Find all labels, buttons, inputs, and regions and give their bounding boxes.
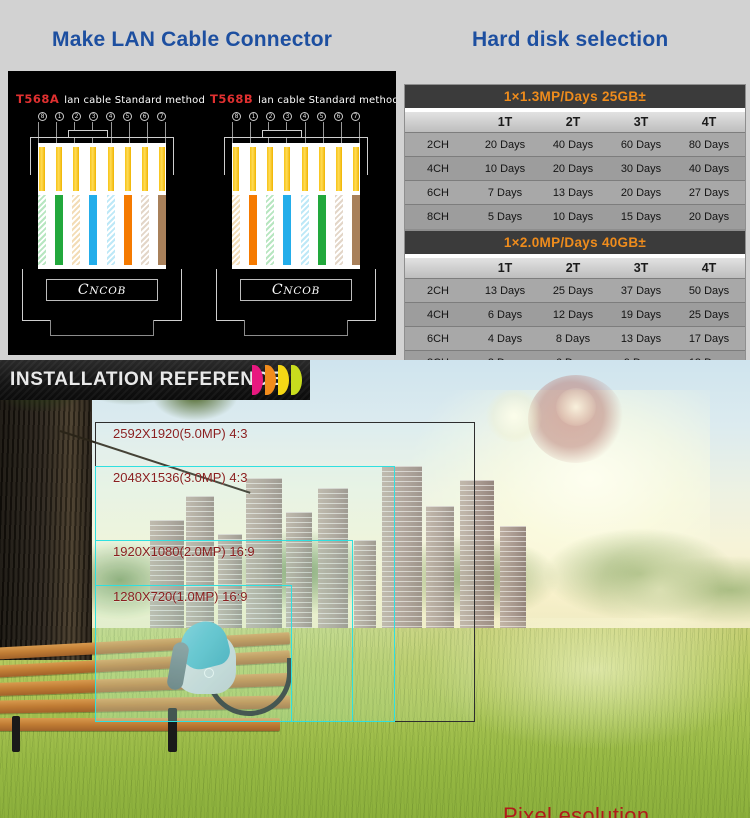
cell-value: 20 Days [539,157,607,180]
resolution-label-2mp: 1920X1080(2.0MP) 16:9 [113,544,255,559]
brand-name: CNCOB [78,282,126,298]
gold-contact [250,147,256,191]
hdd-capacity-table-2-0mp: 1×2.0MP/Days 40GB± 1T 2T 3T 4T 2CH 13 Da… [404,230,746,376]
cell-value: 80 Days [675,133,743,156]
wire-pin-4 [283,143,291,269]
cell-value: 50 Days [675,279,743,302]
pixel-legend-title: Pixel esolution [503,803,719,818]
gold-contact [142,147,148,191]
pin-badge: 3 [283,112,292,121]
pin-badge: 4 [106,112,115,121]
cell-value: 15 Days [607,205,675,229]
resolution-label-3mp: 2048X1536(3.0MP) 4:3 [113,470,247,485]
chevron-lime [291,365,302,395]
cell-value: 27 Days [675,181,743,204]
pin-badge: 5 [317,112,326,121]
wire-jacket-green [55,195,63,265]
wire-jacket-orange [124,195,132,265]
wire-pin-7 [141,143,149,269]
wire-pin-4 [89,143,97,269]
resolution-box-1mp [95,585,292,722]
wire-jacket-white-brown [141,195,149,265]
column-header-1t: 1T [471,112,539,132]
wire-jacket-orange [249,195,257,265]
cell-value: 30 Days [607,157,675,180]
connector-heading-t568b: T568Blan cable Standard method [210,90,396,108]
pin-badge: 6 [140,112,149,121]
gold-contact [125,147,131,191]
column-header-3t: 3T [607,258,675,278]
row-label: 8CH [405,205,471,229]
column-header-blank [405,258,471,278]
standard-desc-t568a: lan cable Standard method [64,95,205,106]
row-label: 6CH [405,181,471,204]
brand-label-box-t568a: CNCOB [46,279,158,301]
wire-pin-6 [124,143,132,269]
row-label: 2CH [405,279,471,302]
cell-value: 19 Days [607,303,675,326]
brand-label-box-t568b: CNCOB [240,279,352,301]
table-row: 2CH 20 Days 40 Days 60 Days 80 Days [405,133,745,157]
pin-badge: 4 [300,112,309,121]
pin-badge: 7 [351,112,360,121]
wire-pin-5 [301,143,309,269]
cell-value: 10 Days [539,205,607,229]
gold-contact [56,147,62,191]
table-row: 8CH 5 Days 10 Days 15 Days 20 Days [405,205,745,229]
wire-pin-3 [72,143,80,269]
column-header-1t: 1T [471,258,539,278]
wire-jacket-white-orange [72,195,80,265]
table-row: 2CH 13 Days 25 Days 37 Days 50 Days [405,279,745,303]
rj45-cable-boot [50,320,154,336]
gold-contact [108,147,114,191]
top-section: Make LAN Cable Connector Hard disk selec… [0,0,750,360]
chevron-orange [265,365,276,395]
connector-diagram-t568a: T568Alan cable Standard method 8 1 2 3 4… [8,71,202,355]
cell-value: 20 Days [607,181,675,204]
wire-pin-3 [266,143,274,269]
pin-badge: 1 [55,112,64,121]
table-header-row: 1T 2T 3T 4T [405,112,745,133]
column-header-2t: 2T [539,112,607,132]
column-header-2t: 2T [539,258,607,278]
pin-badge: 3 [89,112,98,121]
column-header-blank [405,112,471,132]
row-label: 2CH [405,133,471,156]
pin-badge: 5 [123,112,132,121]
cell-value: 6 Days [471,303,539,326]
brand-name: CNCOB [272,282,320,298]
resolution-label-1mp: 1280X720(1.0MP) 16:9 [113,589,247,604]
cell-value: 40 Days [675,157,743,180]
connector-heading-t568a: T568Alan cable Standard method [16,90,205,108]
pin-badge: 2 [72,112,81,121]
table-row: 4CH 6 Days 12 Days 19 Days 25 Days [405,303,745,327]
rj45-cable-boot [244,320,348,336]
column-header-4t: 4T [675,112,743,132]
cell-value: 5 Days [471,205,539,229]
pin-badge: 8 [232,112,241,121]
wire-jacket-brown [158,195,166,265]
gold-contact [302,147,308,191]
lan-cable-diagram-panel: T568Alan cable Standard method 8 1 2 3 4… [8,71,396,355]
wire-pin-7 [335,143,343,269]
table-row: 6CH 7 Days 13 Days 20 Days 27 Days [405,181,745,205]
gold-contact [336,147,342,191]
wire-group-t568b [232,143,360,269]
table-header-row: 1T 2T 3T 4T [405,258,745,279]
wire-pin-1 [232,143,240,269]
cell-value: 13 Days [539,181,607,204]
table-row: 6CH 4 Days 8 Days 13 Days 17 Days [405,327,745,351]
wire-jacket-brown [352,195,360,265]
wire-group-t568a [38,143,166,269]
wire-jacket-white-orange [232,195,240,265]
connector-diagram-t568b: T568Blan cable Standard method 8 1 2 3 4… [202,71,396,355]
cell-value: 25 Days [539,279,607,302]
cell-value: 12 Days [539,303,607,326]
wire-pin-8 [352,143,360,269]
standard-name-t568b: T568B [210,92,253,106]
column-header-3t: 3T [607,112,675,132]
cell-value: 13 Days [607,327,675,350]
pin-number-row-t568b: 8 1 2 3 4 5 6 7 [232,112,360,121]
cell-value: 7 Days [471,181,539,204]
wire-pin-5 [107,143,115,269]
cell-value: 25 Days [675,303,743,326]
cell-value: 10 Days [471,157,539,180]
page-title-hdd: Hard disk selection [472,28,668,52]
wire-jacket-white-brown [335,195,343,265]
wire-jacket-white-blue [107,195,115,265]
wire-pin-8 [158,143,166,269]
wire-pin-6 [318,143,326,269]
gold-contact [159,147,165,191]
wire-pin-2 [249,143,257,269]
banner-chevron-group [252,365,302,395]
cell-value: 20 Days [471,133,539,156]
pin-badge: 1 [249,112,258,121]
wire-jacket-blue [89,195,97,265]
banner-title: INSTALLATION REFERENCE [10,369,282,391]
wire-pin-1 [38,143,46,269]
pin-number-row-t568a: 8 1 2 3 4 5 6 7 [38,112,166,121]
table-title: 1×1.3MP/Days 25GB± [405,85,745,108]
wire-jacket-white-green [266,195,274,265]
resolution-overlay: 2592X1920(5.0MP) 4:3 2048X1536(3.0MP) 4:… [0,360,750,818]
wire-jacket-green [318,195,326,265]
pin-badge: 8 [38,112,47,121]
column-header-4t: 4T [675,258,743,278]
cell-value: 8 Days [539,327,607,350]
standard-name-t568a: T568A [16,92,59,106]
pin-badge: 7 [157,112,166,121]
cell-value: 40 Days [539,133,607,156]
chevron-magenta [252,365,263,395]
gold-contact [267,147,273,191]
cell-value: 60 Days [607,133,675,156]
wire-pin-2 [55,143,63,269]
cell-value: 17 Days [675,327,743,350]
pin-badge: 6 [334,112,343,121]
row-label: 6CH [405,327,471,350]
gold-contact [39,147,45,191]
row-label: 4CH [405,303,471,326]
wire-jacket-white-blue [301,195,309,265]
gold-contact [90,147,96,191]
gold-contact [353,147,359,191]
resolution-label-5mp: 2592X1920(5.0MP) 4:3 [113,426,247,441]
cell-value: 13 Days [471,279,539,302]
installation-reference-photo: 2592X1920(5.0MP) 4:3 2048X1536(3.0MP) 4:… [0,360,750,818]
standard-desc-t568b: lan cable Standard method [258,95,396,106]
gold-contact [319,147,325,191]
cell-value: 20 Days [675,205,743,229]
table-row: 4CH 10 Days 20 Days 30 Days 40 Days [405,157,745,181]
table-title: 1×2.0MP/Days 40GB± [405,231,745,254]
cell-value: 37 Days [607,279,675,302]
gold-contact [233,147,239,191]
cell-value: 4 Days [471,327,539,350]
chevron-yellow [278,365,289,395]
wire-jacket-blue [283,195,291,265]
pixel-resolution-legend: Pixel esolution 5 Mega Pixels=2592X1920 … [503,803,719,818]
page-title-lan: Make LAN Cable Connector [52,28,332,52]
wire-jacket-white-green [38,195,46,265]
pin-badge: 2 [266,112,275,121]
hdd-capacity-table-1-3mp: 1×1.3MP/Days 25GB± 1T 2T 3T 4T 2CH 20 Da… [404,84,746,230]
row-label: 4CH [405,157,471,180]
gold-contact [73,147,79,191]
gold-contact [284,147,290,191]
installation-reference-banner: INSTALLATION REFERENCE [0,360,310,400]
